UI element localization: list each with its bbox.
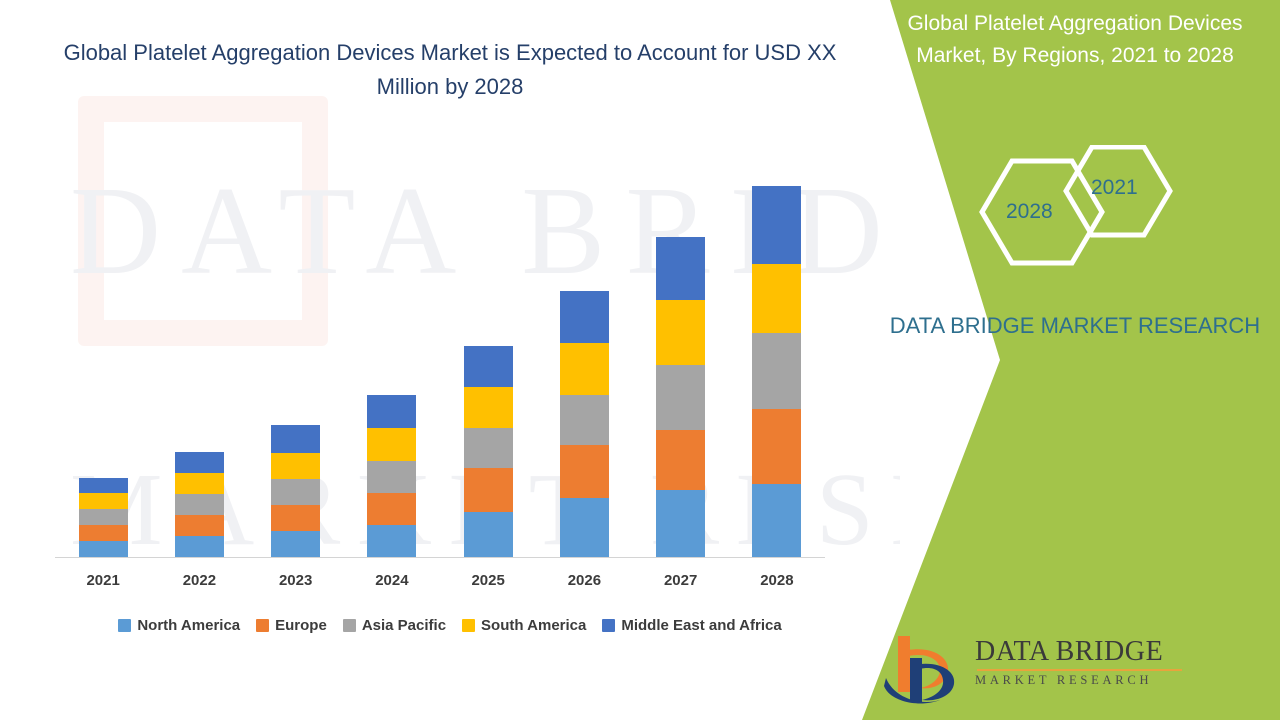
bar-segment[interactable] [175,494,224,515]
bar-segment[interactable] [752,484,801,557]
bar-segment[interactable] [175,515,224,536]
x-axis-labels: 20212022202320242025202620272028 [55,572,825,598]
legend-label: South America [481,617,586,634]
bar-group[interactable] [175,452,224,557]
legend-swatch-icon [256,619,269,632]
right-panel: Global Platelet Aggregation Devices Mark… [860,0,1280,720]
bar-segment[interactable] [271,425,320,453]
bar-segment[interactable] [79,541,128,557]
bar-segment[interactable] [175,536,224,557]
bar-segment[interactable] [656,365,705,430]
bar-segment[interactable] [175,452,224,473]
x-axis-tick: 2023 [248,572,344,589]
legend-label: Middle East and Africa [621,617,781,634]
bar-segment[interactable] [560,445,609,498]
hexagon-badges: 2028 2021 [970,145,1270,280]
bar-segment[interactable] [271,479,320,505]
bar-segment[interactable] [175,473,224,494]
bar-segment[interactable] [752,409,801,484]
bar-segment[interactable] [656,430,705,490]
bar-segment[interactable] [79,478,128,493]
chart-legend: North AmericaEuropeAsia PacificSouth Ame… [55,617,845,634]
bar-segment[interactable] [560,291,609,343]
x-axis-tick: 2024 [344,572,440,589]
legend-label: Europe [275,617,327,634]
bar-segment[interactable] [464,346,513,387]
legend-item[interactable]: South America [462,617,586,634]
bar-group[interactable] [752,186,801,557]
x-axis-tick: 2022 [151,572,247,589]
bar-segment[interactable] [656,490,705,557]
bar-segment[interactable] [560,395,609,445]
bar-segment[interactable] [752,333,801,409]
chart-title: Global Platelet Aggregation Devices Mark… [55,36,845,104]
bar-segment[interactable] [464,468,513,512]
bar-segment[interactable] [464,512,513,557]
legend-swatch-icon [343,619,356,632]
legend-item[interactable]: Middle East and Africa [602,617,781,634]
bar-group[interactable] [367,395,416,557]
x-axis-tick: 2021 [55,572,151,589]
legend-swatch-icon [462,619,475,632]
bar-group[interactable] [656,237,705,557]
logo-text: DATA BRIDGE MARKET RESEARCH [975,636,1275,688]
bar-segment[interactable] [367,461,416,493]
bar-segment[interactable] [752,186,801,264]
logo-subtitle: MARKET RESEARCH [975,673,1275,688]
bar-segment[interactable] [656,300,705,365]
bar-group[interactable] [560,291,609,557]
bar-chart-plot [55,150,825,558]
logo-title: DATA BRIDGE [975,636,1275,668]
bar-segment[interactable] [271,505,320,531]
bar-segment[interactable] [79,493,128,509]
bar-segment[interactable] [752,264,801,333]
x-axis-tick: 2025 [440,572,536,589]
bar-segment[interactable] [464,387,513,428]
legend-swatch-icon [602,619,615,632]
bar-segment[interactable] [79,525,128,541]
bar-segment[interactable] [367,428,416,461]
bar-segment[interactable] [560,498,609,557]
legend-label: North America [137,617,240,634]
x-axis-line [55,557,825,558]
panel-title: Global Platelet Aggregation Devices Mark… [870,8,1280,72]
bar-segment[interactable] [271,453,320,479]
bar-segment[interactable] [560,343,609,395]
bar-group[interactable] [464,346,513,557]
logo-mark-icon [880,628,970,708]
legend-swatch-icon [118,619,131,632]
brand-name: DATA BRIDGE MARKET RESEARCH [870,310,1280,342]
bar-group[interactable] [271,425,320,557]
bar-segment[interactable] [464,428,513,468]
hexagon-2021-label: 2021 [1091,176,1138,200]
legend-item[interactable]: North America [118,617,240,634]
bar-segment[interactable] [367,395,416,428]
legend-item[interactable]: Asia Pacific [343,617,446,634]
legend-label: Asia Pacific [362,617,446,634]
hexagon-2028-label: 2028 [1006,200,1053,224]
bar-segment[interactable] [367,493,416,525]
x-axis-tick: 2028 [729,572,825,589]
bar-segment[interactable] [656,237,705,300]
bar-segment[interactable] [271,531,320,557]
x-axis-tick: 2026 [536,572,632,589]
bar-segment[interactable] [79,509,128,525]
chart-panel: DATA BRIDGE MARKET RESEARCH Global Plate… [0,0,900,720]
data-bridge-logo: DATA BRIDGE MARKET RESEARCH [880,628,1280,708]
x-axis-tick: 2027 [633,572,729,589]
bar-group[interactable] [79,478,128,557]
logo-divider [977,669,1182,671]
legend-item[interactable]: Europe [256,617,327,634]
bar-segment[interactable] [367,525,416,557]
